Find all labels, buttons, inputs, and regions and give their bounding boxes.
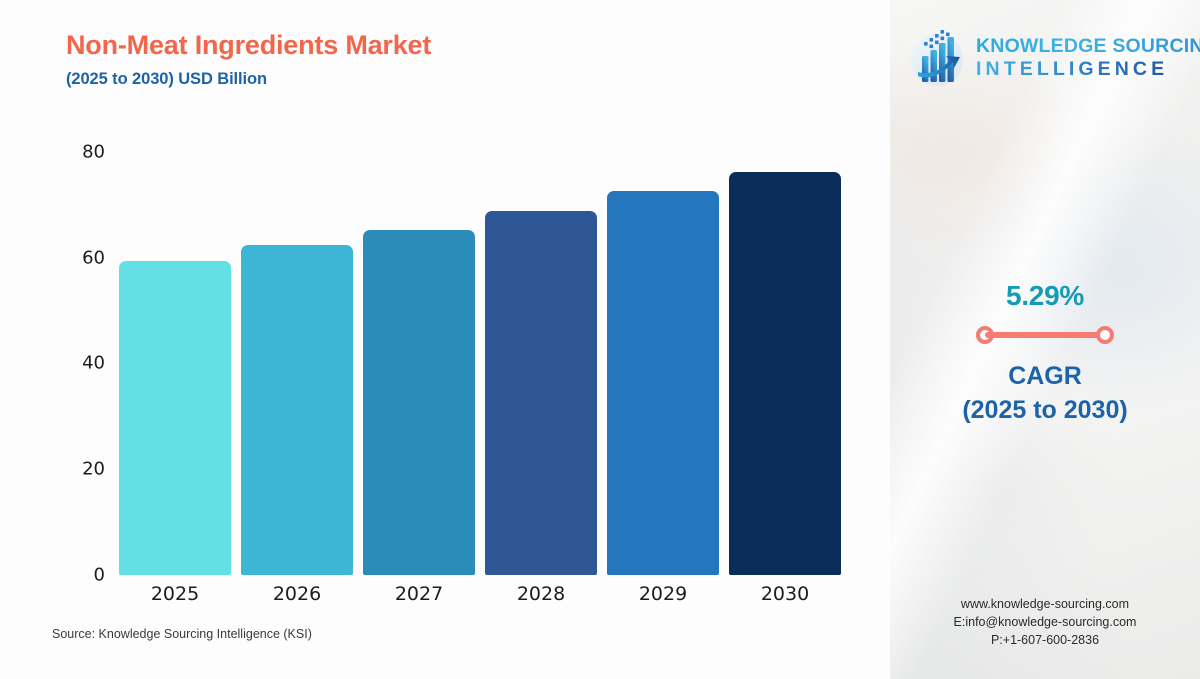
cagr-label: CAGR bbox=[890, 360, 1200, 394]
y-axis-tick-40: 40 bbox=[35, 353, 105, 374]
brand-name-line1: KNOWLEDGE SOURCING bbox=[976, 37, 1200, 57]
chart-panel: Non-Meat Ingredients Market (2025 to 203… bbox=[0, 0, 890, 679]
connector-endpoint-right-icon bbox=[1096, 326, 1114, 344]
cagr-period: (2025 to 2030) bbox=[890, 394, 1200, 428]
plot-area: 80 60 40 20 0 bbox=[0, 0, 890, 679]
contact-website[interactable]: www.knowledge-sourcing.com bbox=[890, 595, 1200, 613]
x-axis-tick-2027: 2027 bbox=[363, 583, 475, 605]
brand-name: KNOWLEDGE SOURCING INTELLIGENCE bbox=[976, 35, 1200, 80]
cagr-block: 5.29% CAGR (2025 to 2030) bbox=[890, 280, 1200, 428]
cagr-value: 5.29% bbox=[890, 280, 1200, 312]
x-axis-tick-2028: 2028 bbox=[485, 583, 597, 605]
y-axis-tick-20: 20 bbox=[35, 459, 105, 480]
x-axis-tick-2026: 2026 bbox=[241, 583, 353, 605]
bar-2030[interactable] bbox=[729, 172, 841, 575]
contact-info: www.knowledge-sourcing.com E:info@knowle… bbox=[890, 595, 1200, 649]
y-axis-tick-60: 60 bbox=[35, 248, 105, 269]
y-axis-tick-80: 80 bbox=[35, 142, 105, 163]
brand-panel: KNOWLEDGE SOURCING INTELLIGENCE 5.29% CA… bbox=[890, 0, 1200, 679]
bar-series bbox=[119, 152, 839, 575]
bar-2025[interactable] bbox=[119, 261, 231, 575]
brand-logo: KNOWLEDGE SOURCING INTELLIGENCE bbox=[906, 26, 1196, 88]
connector-line bbox=[985, 332, 1105, 338]
bar-2027[interactable] bbox=[363, 230, 475, 575]
x-axis-tick-2029: 2029 bbox=[607, 583, 719, 605]
infographic-page: Non-Meat Ingredients Market (2025 to 203… bbox=[0, 0, 1200, 679]
x-axis-tick-2030: 2030 bbox=[729, 583, 841, 605]
contact-email[interactable]: E:info@knowledge-sourcing.com bbox=[890, 613, 1200, 631]
contact-phone: P:+1-607-600-2836 bbox=[890, 631, 1200, 649]
cagr-connector-icon bbox=[976, 326, 1114, 344]
brand-name-line2: INTELLIGENCE bbox=[976, 60, 1200, 80]
knowledge-sourcing-logo-icon bbox=[906, 26, 968, 88]
x-axis-tick-2025: 2025 bbox=[119, 583, 231, 605]
source-note: Source: Knowledge Sourcing Intelligence … bbox=[52, 627, 312, 641]
y-axis-tick-0: 0 bbox=[35, 565, 105, 586]
bar-2028[interactable] bbox=[485, 211, 597, 575]
bar-2026[interactable] bbox=[241, 245, 353, 575]
bar-2029[interactable] bbox=[607, 191, 719, 575]
